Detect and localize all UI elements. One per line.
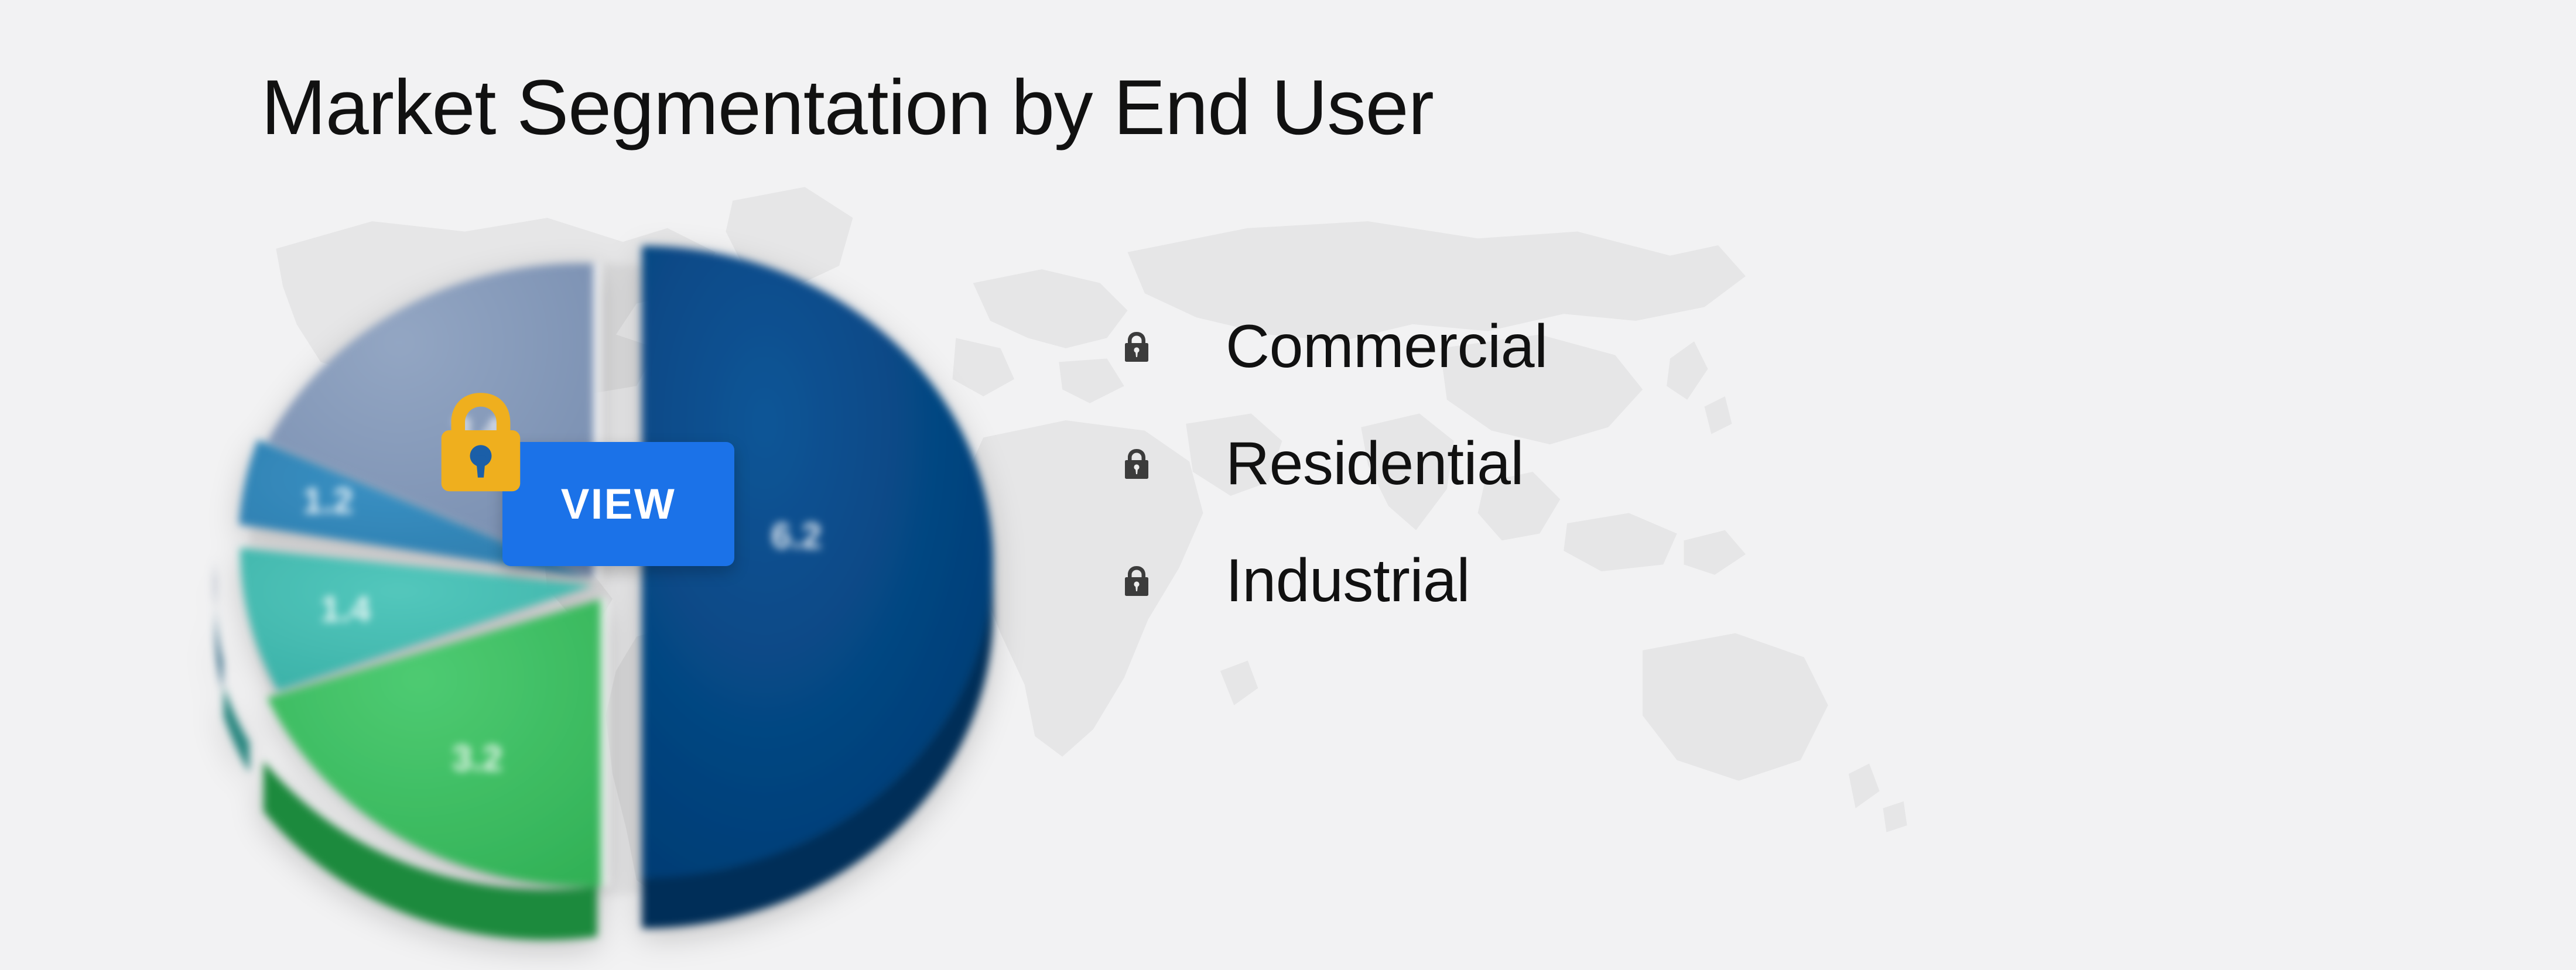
padlock-icon [1121, 564, 1152, 597]
legend-item-industrial[interactable]: Industrial [1121, 522, 1883, 639]
pie-slice-label-teal: 1.4 [320, 589, 371, 629]
padlock-icon [1121, 447, 1152, 480]
legend: Commercial Residential [1121, 288, 1883, 639]
legend-item-commercial[interactable]: Commercial [1121, 288, 1883, 405]
page-title: Market Segmentation by End User [261, 64, 1434, 152]
view-cta[interactable]: VIEW [502, 442, 734, 566]
view-button-label: VIEW [561, 480, 676, 529]
padlock-icon [1121, 330, 1152, 363]
padlock-icon [431, 387, 531, 495]
legend-item-label: Industrial [1226, 546, 1470, 616]
pie-slice-label-navy: 6.2 [771, 516, 822, 556]
pie-slice-label-steel: 1.2 [303, 481, 353, 521]
view-button[interactable]: VIEW [502, 442, 734, 566]
legend-item-label: Residential [1226, 429, 1524, 499]
chart-page: Market Segmentation by End User [0, 0, 2576, 970]
legend-item-residential[interactable]: Residential [1121, 405, 1883, 522]
pie-slice-label-green: 3.2 [452, 738, 502, 779]
legend-item-label: Commercial [1226, 312, 1548, 382]
